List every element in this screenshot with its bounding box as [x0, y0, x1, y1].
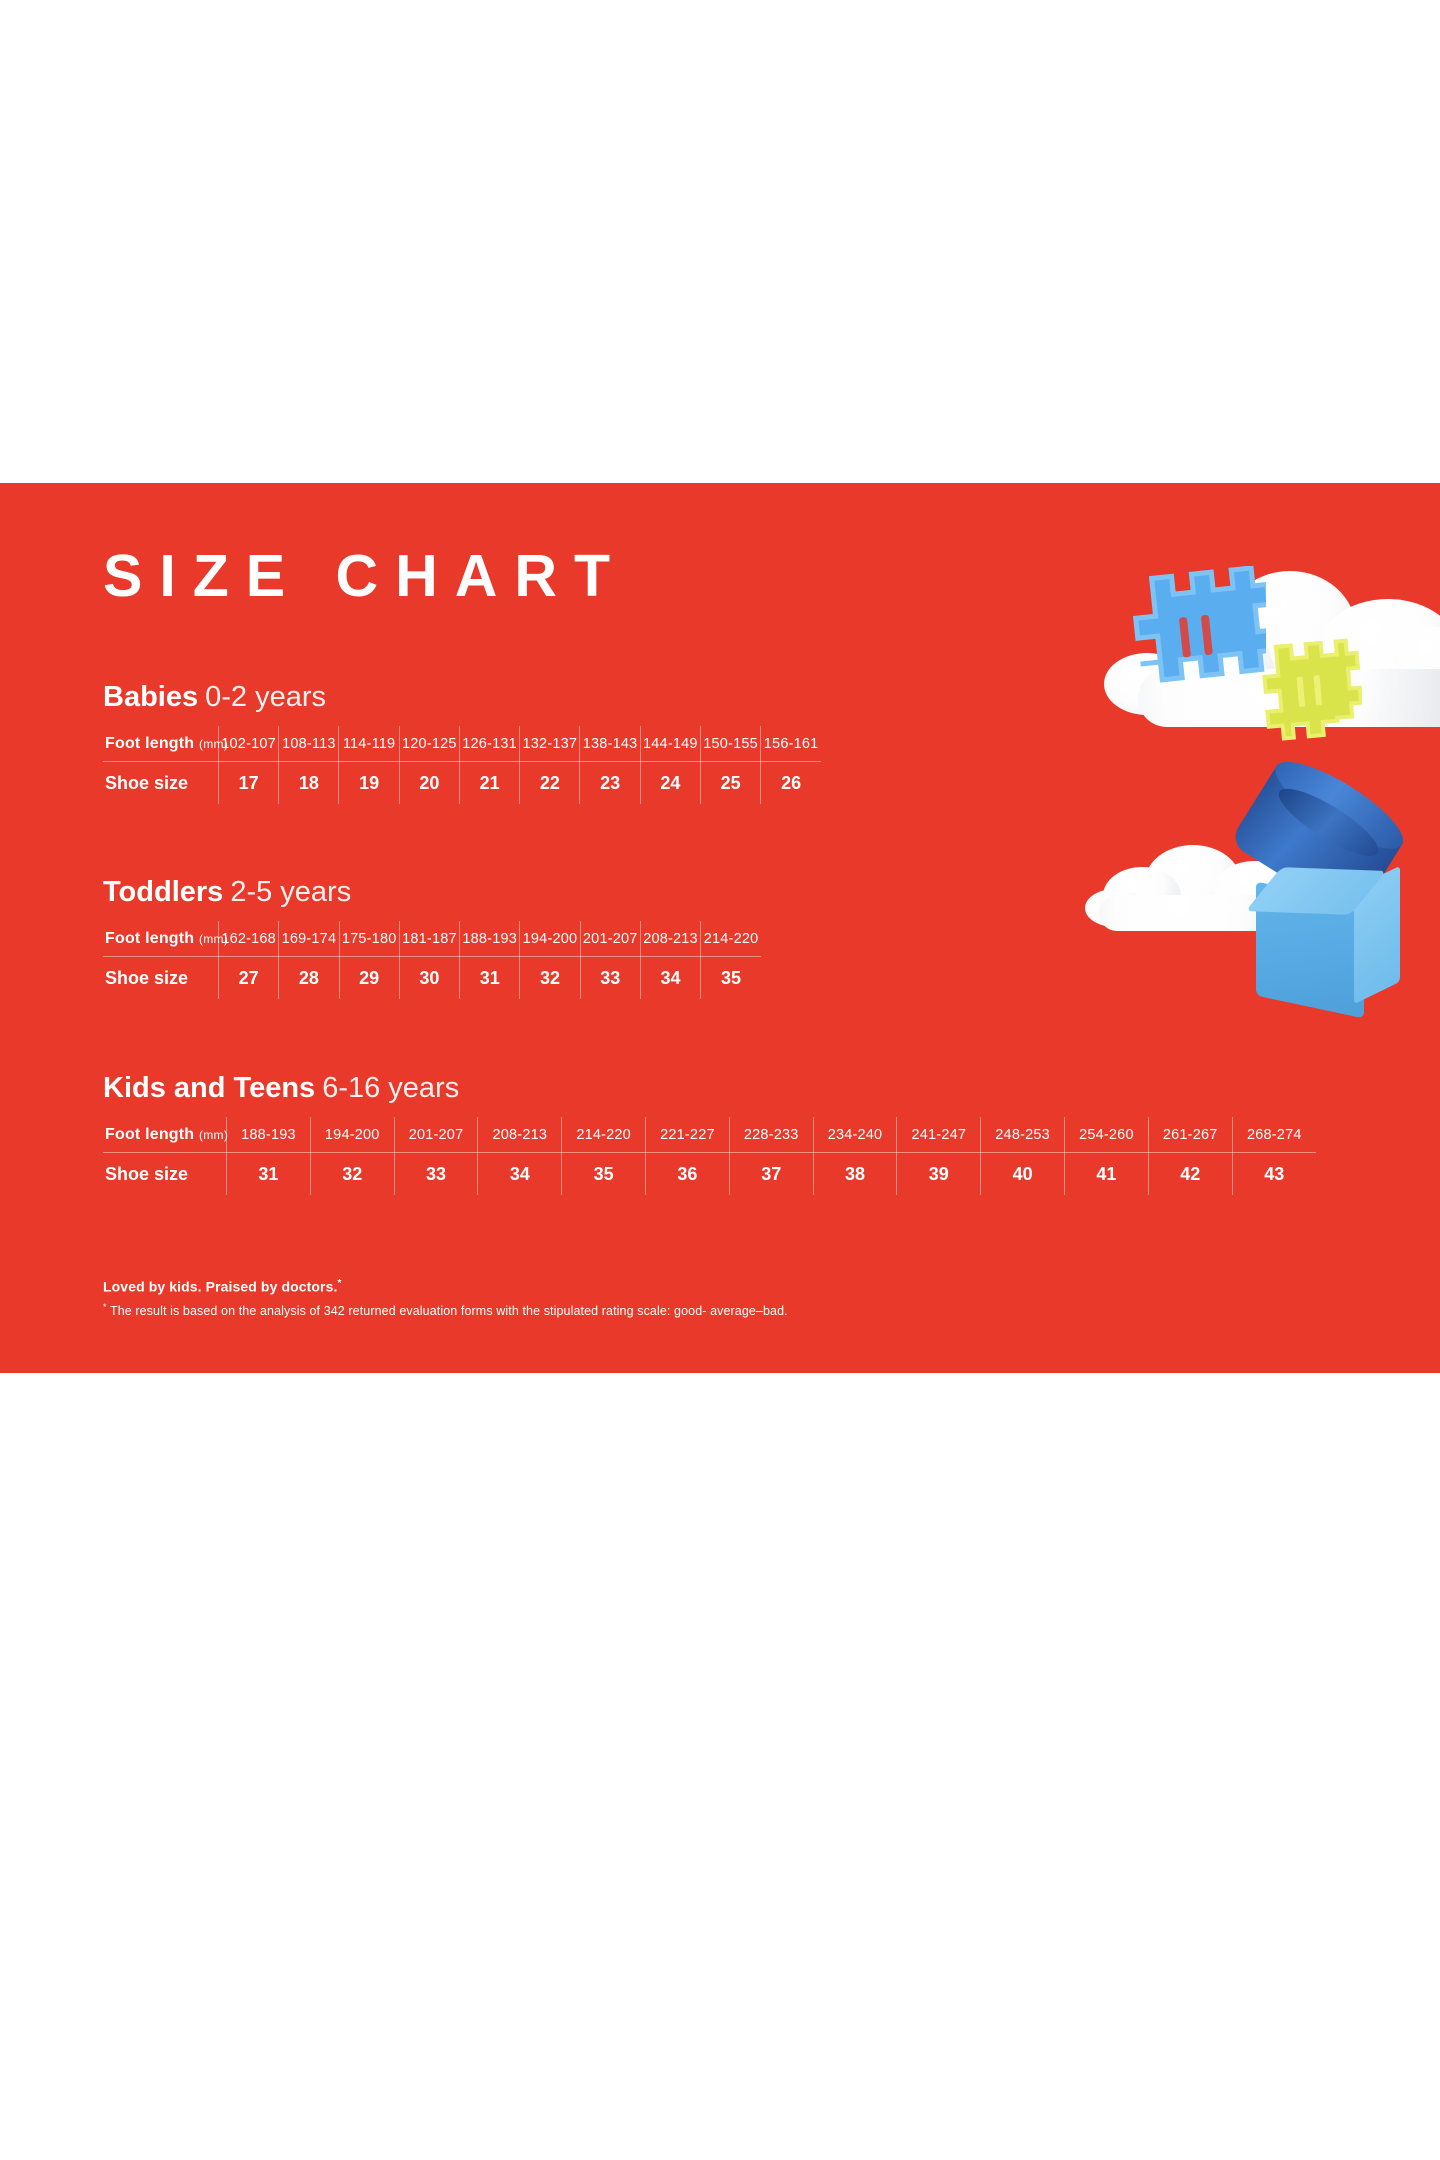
row-label-unit: (mm) — [199, 1128, 228, 1142]
table-row-shoe-size: Shoe size 17 18 19 20 21 22 23 24 25 26 — [103, 762, 821, 805]
cell-shoe-size: 18 — [279, 762, 339, 805]
row-label-shoe-size: Shoe size — [103, 1153, 227, 1196]
cell-shoe-size: 35 — [701, 957, 761, 1000]
cell-foot-length: 169-174 — [279, 921, 339, 957]
cell-shoe-size: 19 — [339, 762, 399, 805]
table-row-shoe-size: Shoe size 27 28 29 30 31 32 33 34 35 — [103, 957, 761, 1000]
cell-shoe-size: 39 — [897, 1153, 981, 1196]
cell-foot-length: 228-233 — [729, 1117, 813, 1153]
cell-foot-length: 181-187 — [399, 921, 459, 957]
cell-shoe-size: 36 — [646, 1153, 730, 1196]
cell-shoe-size: 40 — [981, 1153, 1065, 1196]
cell-shoe-size: 41 — [1065, 1153, 1149, 1196]
cell-foot-length: 175-180 — [339, 921, 399, 957]
table-row-foot-length: Foot length (mm) 188-193 194-200 201-207… — [103, 1117, 1316, 1153]
cell-shoe-size: 17 — [218, 762, 278, 805]
cell-shoe-size: 24 — [640, 762, 700, 805]
cell-shoe-size: 32 — [310, 1153, 394, 1196]
size-chart-poster: SIZE CHART Babies0-2 years Foot length (… — [0, 483, 1440, 1373]
section-age-label: 6-16 years — [322, 1072, 459, 1104]
cell-shoe-size: 26 — [761, 762, 821, 805]
row-label-foot-length: Foot length (mm) — [103, 921, 219, 957]
section-toddlers: Toddlers2-5 years Foot length (mm) 162-1… — [103, 876, 1203, 999]
cell-foot-length: 201-207 — [394, 1117, 478, 1153]
row-label-text: Foot length — [105, 930, 194, 947]
table-row-shoe-size: Shoe size 31 32 33 34 35 36 37 38 39 40 … — [103, 1153, 1316, 1196]
cell-foot-length: 221-227 — [646, 1117, 730, 1153]
size-table-babies: Foot length (mm) 102-107 108-113 114-119… — [103, 726, 821, 804]
cell-shoe-size: 29 — [339, 957, 399, 1000]
row-label-foot-length: Foot length (mm) — [103, 1117, 227, 1153]
cell-foot-length: 138-143 — [580, 726, 640, 762]
table-row-foot-length: Foot length (mm) 102-107 108-113 114-119… — [103, 726, 821, 762]
hash-icon-yellow — [1258, 638, 1362, 748]
section-group-label: Toddlers — [103, 876, 223, 908]
cell-foot-length: 162-168 — [219, 921, 279, 957]
cell-shoe-size: 31 — [227, 1153, 311, 1196]
cell-foot-length: 248-253 — [981, 1117, 1065, 1153]
section-group-label: Kids and Teens — [103, 1072, 315, 1104]
cell-foot-length: 234-240 — [813, 1117, 897, 1153]
cell-foot-length: 194-200 — [310, 1117, 394, 1153]
cell-foot-length: 188-193 — [460, 921, 520, 957]
cell-shoe-size: 23 — [580, 762, 640, 805]
cell-foot-length: 208-213 — [478, 1117, 562, 1153]
section-heading-toddlers: Toddlers2-5 years — [103, 876, 1203, 909]
cell-shoe-size: 34 — [478, 1153, 562, 1196]
footer-claim-text: Loved by kids. Praised by doctors. — [103, 1279, 337, 1295]
footer-note: * The result is based on the analysis of… — [103, 1302, 1103, 1318]
cell-foot-length: 156-161 — [761, 726, 821, 762]
cell-shoe-size: 20 — [399, 762, 459, 805]
section-age-label: 2-5 years — [230, 876, 351, 908]
row-label-shoe-size: Shoe size — [103, 762, 218, 805]
cell-foot-length: 208-213 — [640, 921, 700, 957]
stamp-handle-graphic — [1220, 748, 1413, 935]
cell-shoe-size: 34 — [640, 957, 700, 1000]
section-babies: Babies0-2 years Foot length (mm) 102-107 — [103, 681, 1203, 804]
cell-shoe-size: 31 — [460, 957, 520, 1000]
section-group-label: Babies — [103, 681, 198, 713]
cell-shoe-size: 32 — [520, 957, 580, 1000]
cell-foot-length: 254-260 — [1065, 1117, 1149, 1153]
cell-foot-length: 194-200 — [520, 921, 580, 957]
stamp-block-graphic — [1256, 875, 1388, 1007]
footer: Loved by kids. Praised by doctors.* * Th… — [103, 1278, 1103, 1318]
cell-foot-length: 261-267 — [1148, 1117, 1232, 1153]
cell-foot-length: 102-107 — [218, 726, 278, 762]
footer-note-text: The result is based on the analysis of 3… — [107, 1304, 788, 1318]
cell-foot-length: 268-274 — [1232, 1117, 1316, 1153]
row-label-foot-length: Foot length (mm) — [103, 726, 218, 762]
cell-shoe-size: 42 — [1148, 1153, 1232, 1196]
row-label-text: Foot length — [105, 735, 194, 752]
cell-foot-length: 126-131 — [459, 726, 519, 762]
cell-foot-length: 201-207 — [580, 921, 640, 957]
cell-shoe-size: 38 — [813, 1153, 897, 1196]
cell-foot-length: 114-119 — [339, 726, 399, 762]
page-title: SIZE CHART — [103, 547, 627, 606]
cell-shoe-size: 28 — [279, 957, 339, 1000]
cell-shoe-size: 33 — [580, 957, 640, 1000]
cell-foot-length: 150-155 — [700, 726, 760, 762]
table-row-foot-length: Foot length (mm) 162-168 169-174 175-180… — [103, 921, 761, 957]
cell-foot-length: 120-125 — [399, 726, 459, 762]
section-heading-babies: Babies0-2 years — [103, 681, 1203, 714]
cell-foot-length: 108-113 — [279, 726, 339, 762]
row-label-shoe-size: Shoe size — [103, 957, 219, 1000]
cell-foot-length: 144-149 — [640, 726, 700, 762]
size-table-kids-and-teens: Foot length (mm) 188-193 194-200 201-207… — [103, 1117, 1316, 1195]
cell-shoe-size: 27 — [219, 957, 279, 1000]
cell-shoe-size: 43 — [1232, 1153, 1316, 1196]
section-age-label: 0-2 years — [205, 681, 326, 713]
cell-foot-length: 214-220 — [701, 921, 761, 957]
size-table-toddlers: Foot length (mm) 162-168 169-174 175-180… — [103, 921, 761, 999]
section-heading-kids-and-teens: Kids and Teens6-16 years — [103, 1072, 1203, 1105]
cell-shoe-size: 25 — [700, 762, 760, 805]
footer-claim-marker: * — [337, 1278, 341, 1289]
section-kids-and-teens: Kids and Teens6-16 years Foot length (mm… — [103, 1072, 1203, 1195]
cell-shoe-size: 33 — [394, 1153, 478, 1196]
cell-shoe-size: 35 — [562, 1153, 646, 1196]
cell-shoe-size: 22 — [520, 762, 580, 805]
cell-foot-length: 132-137 — [520, 726, 580, 762]
cell-foot-length: 241-247 — [897, 1117, 981, 1153]
cell-shoe-size: 21 — [459, 762, 519, 805]
row-label-text: Foot length — [105, 1126, 194, 1143]
footer-claim: Loved by kids. Praised by doctors.* — [103, 1278, 1103, 1295]
cell-foot-length: 214-220 — [562, 1117, 646, 1153]
cell-shoe-size: 30 — [399, 957, 459, 1000]
cell-foot-length: 188-193 — [227, 1117, 311, 1153]
cell-shoe-size: 37 — [729, 1153, 813, 1196]
